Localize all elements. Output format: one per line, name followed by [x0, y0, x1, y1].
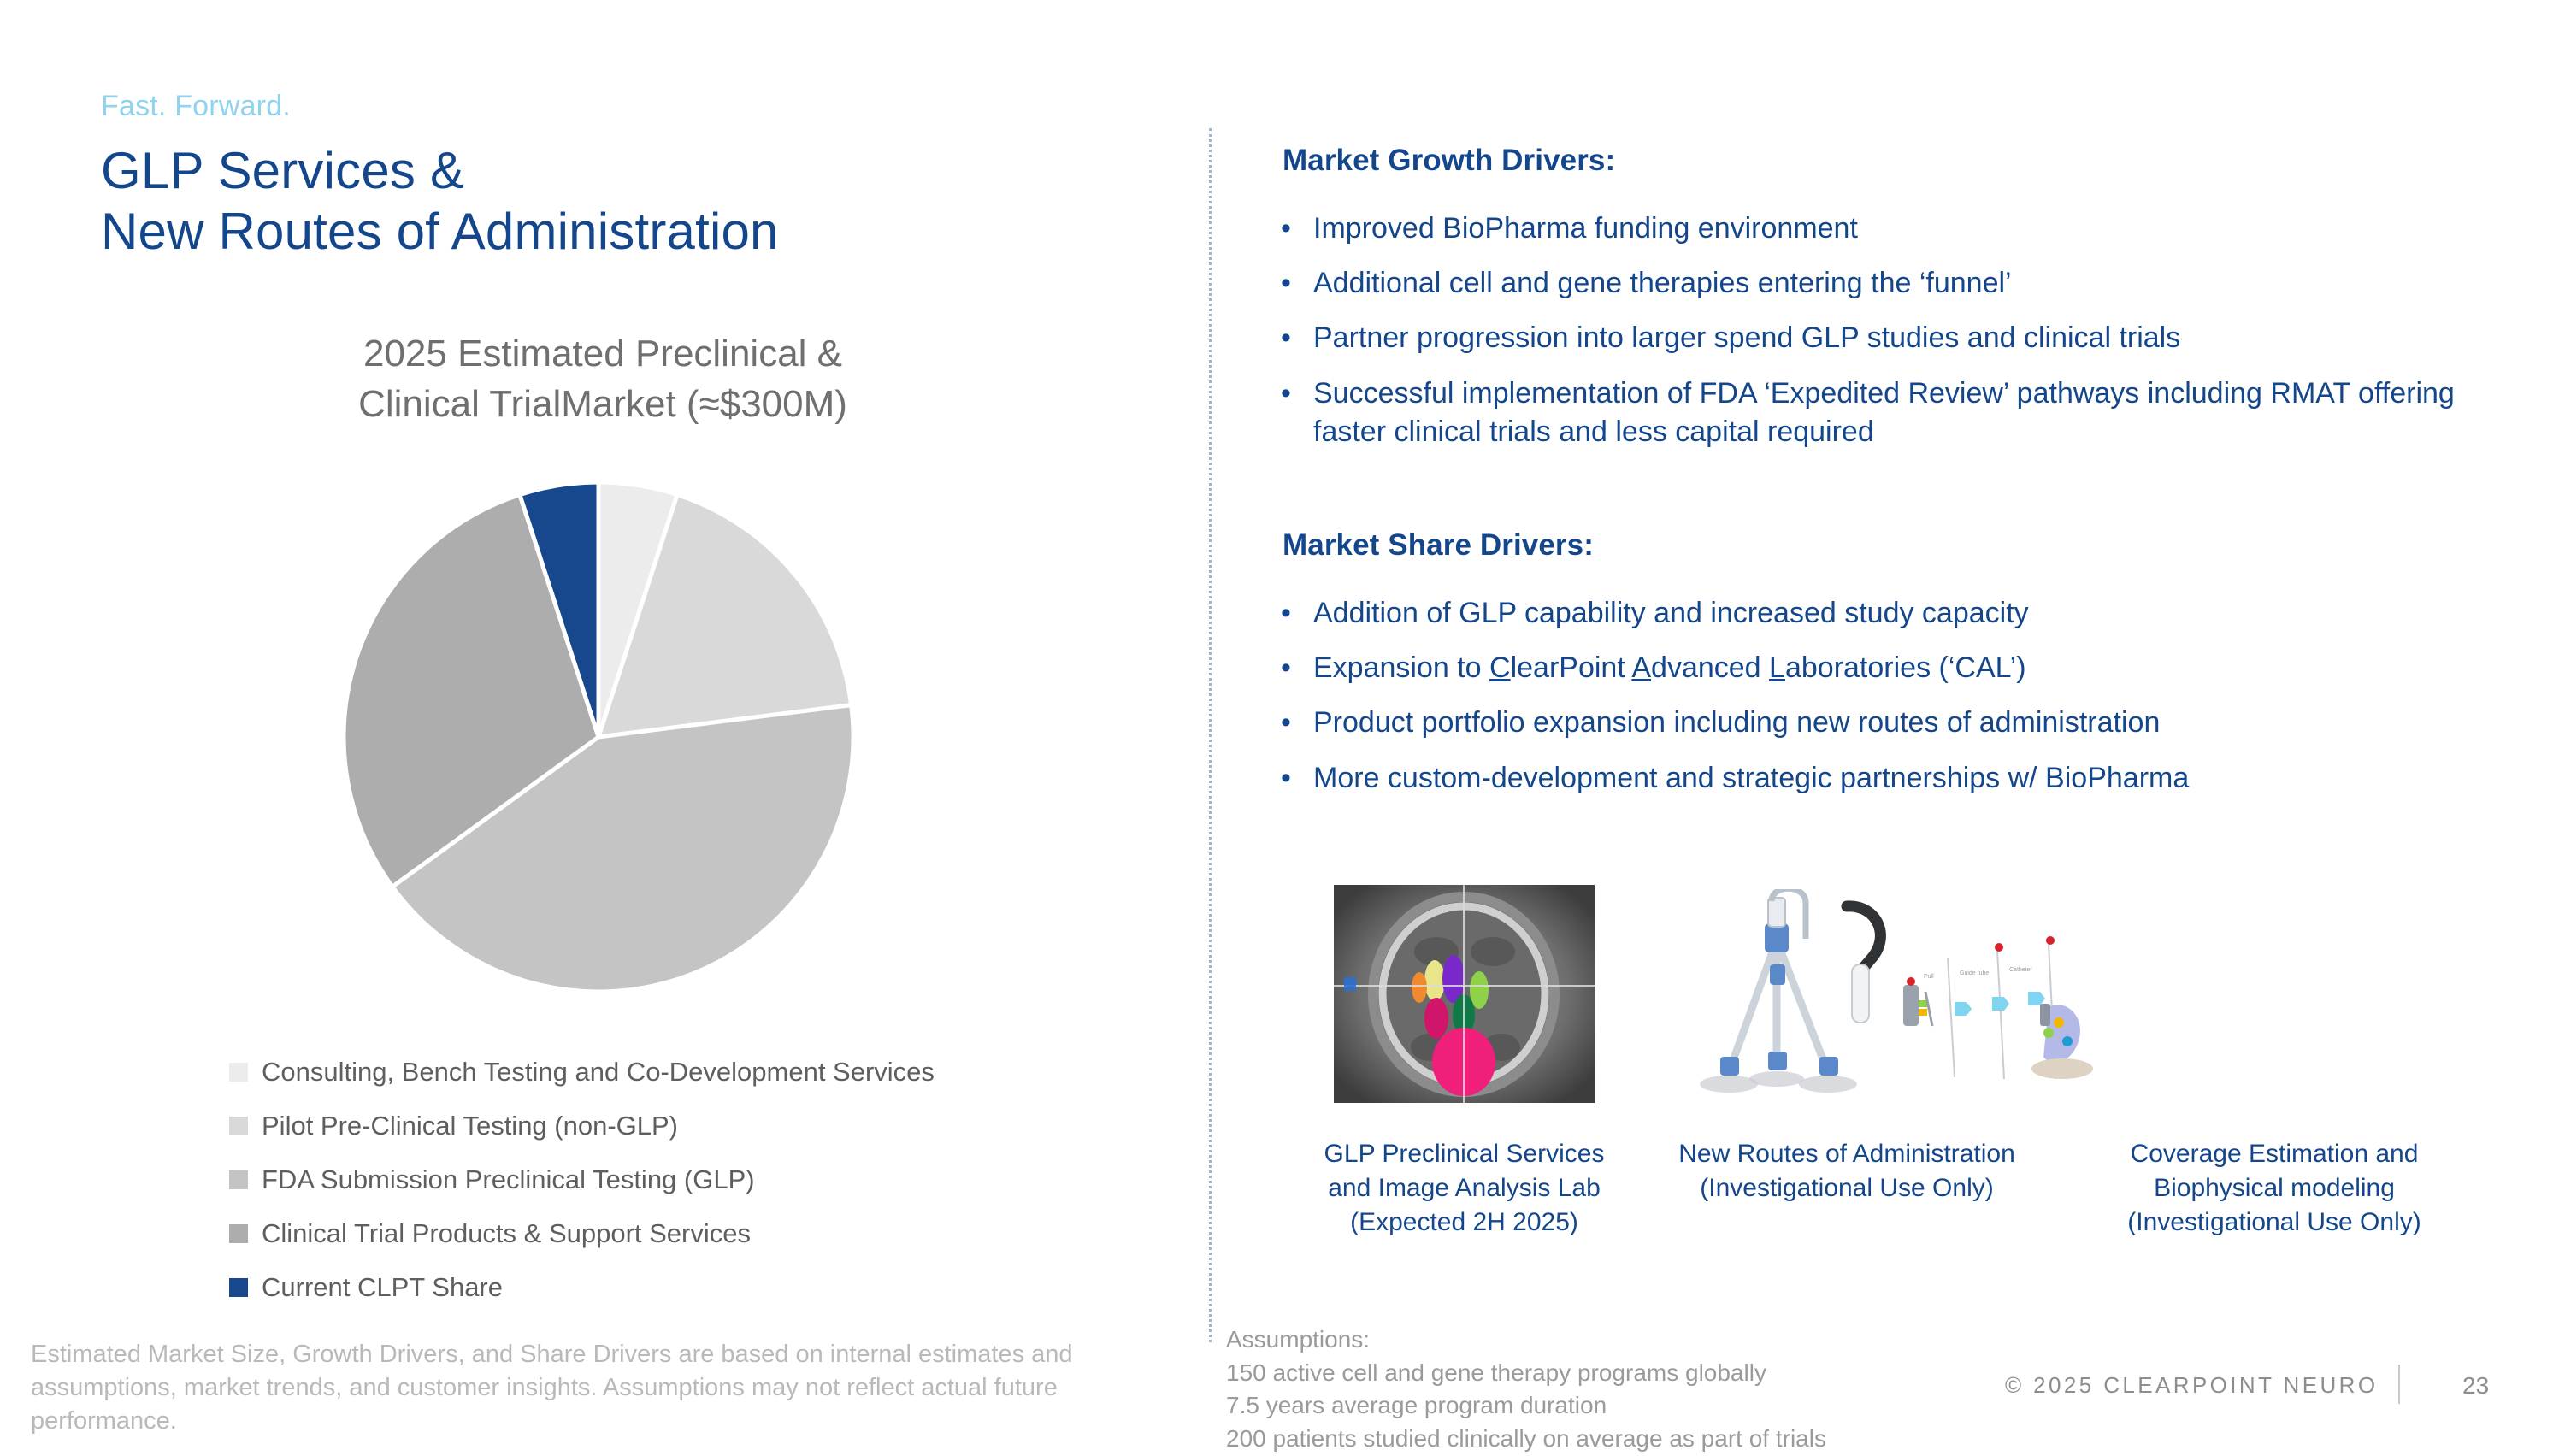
legend-item[interactable]: Pilot Pre-Clinical Testing (non-GLP): [229, 1099, 999, 1152]
chart-title: 2025 Estimated Preclinical & Clinical Tr…: [154, 329, 1052, 429]
bullet-text: More custom-development and strategic pa…: [1313, 759, 2531, 798]
bullet-item: •Product portfolio expansion including n…: [1274, 704, 2531, 742]
assumption-line: 200 patients studied clinically on avera…: [1226, 1423, 1996, 1456]
pie-chart: [342, 479, 855, 995]
bullet-item: •Addition of GLP capability and increase…: [1274, 594, 2531, 633]
bullet-text: Improved BioPharma funding environment: [1313, 209, 2531, 248]
stereotactic-frame-icon: [1676, 889, 1907, 1103]
svg-text:Catheter: Catheter: [2009, 967, 2033, 973]
vertical-divider: [1209, 128, 1212, 1342]
legend-item-label: FDA Submission Preclinical Testing (GLP): [262, 1166, 755, 1193]
bullet-dot-icon: •: [1274, 704, 1313, 742]
bullet-dot-icon: •: [1274, 759, 1313, 798]
page-title: GLP Services & New Routes of Administrat…: [101, 141, 1127, 262]
bullet-dot-icon: •: [1274, 209, 1313, 248]
assumption-line: Assumptions:: [1226, 1323, 1996, 1357]
legend-item[interactable]: FDA Submission Preclinical Testing (GLP): [229, 1152, 999, 1206]
smartframe-device-thumbnail: [1676, 889, 1907, 1103]
legend-swatch-icon: [229, 1117, 248, 1135]
bullet-text: Addition of GLP capability and increased…: [1313, 594, 2531, 633]
bullet-text: Successful implementation of FDA ‘Expedi…: [1313, 374, 2531, 451]
legend-item[interactable]: Consulting, Bench Testing and Co-Develop…: [229, 1045, 999, 1099]
market-share-drivers-list: •Addition of GLP capability and increase…: [1274, 594, 2531, 814]
bullet-dot-icon: •: [1274, 594, 1313, 633]
market-share-drivers-heading: Market Share Drivers:: [1282, 528, 1594, 563]
assumption-line: 7.5 years average program duration: [1226, 1389, 1996, 1423]
bullet-item: •Successful implementation of FDA ‘Exped…: [1274, 374, 2531, 451]
biophysical-modeling-icon: Pull Guide tube Catheter: [1881, 932, 2095, 1103]
legend-item[interactable]: Clinical Trial Products & Support Servic…: [229, 1206, 999, 1260]
bullet-dot-icon: •: [1274, 264, 1313, 303]
bullet-text: Additional cell and gene therapies enter…: [1313, 264, 2531, 303]
bullet-dot-icon: •: [1274, 649, 1313, 687]
caption-glp-preclinical: GLP Preclinical Services and Image Analy…: [1317, 1137, 1612, 1240]
svg-text:Pull: Pull: [1924, 974, 1934, 980]
bullet-dot-icon: •: [1274, 319, 1313, 357]
legend-item-label: Pilot Pre-Clinical Testing (non-GLP): [262, 1112, 678, 1139]
bullet-text: Product portfolio expansion including ne…: [1313, 704, 2531, 742]
slide-root: Fast. Forward. GLP Services & New Routes…: [0, 0, 2565, 1442]
chart-legend: Consulting, Bench Testing and Co-Develop…: [229, 1045, 999, 1314]
bullet-item: •Expansion to ClearPoint Advanced Labora…: [1274, 649, 2531, 687]
bullet-text: Expansion to ClearPoint Advanced Laborat…: [1313, 649, 2531, 687]
bullet-item: •Additional cell and gene therapies ente…: [1274, 264, 2531, 303]
legend-swatch-icon: [229, 1170, 248, 1189]
legend-item-label: Clinical Trial Products & Support Servic…: [262, 1220, 751, 1247]
coverage-modeling-thumbnail: Pull Guide tube Catheter: [1881, 932, 2095, 1103]
pie-chart-svg: [342, 479, 855, 995]
disclaimer-text: Estimated Market Size, Growth Drivers, a…: [31, 1338, 1168, 1438]
chart-title-line-1: 2025 Estimated Preclinical &: [154, 329, 1052, 380]
brain-mri-icon: [1334, 885, 1595, 1103]
bullet-dot-icon: •: [1274, 374, 1313, 451]
page-title-line-1: GLP Services &: [101, 141, 1127, 202]
assumptions-text: Assumptions:150 active cell and gene the…: [1226, 1323, 1996, 1456]
bullet-item: •Partner progression into larger spend G…: [1274, 319, 2531, 357]
chart-title-line-2: Clinical TrialMarket (≈$300M): [154, 380, 1052, 430]
market-growth-drivers-list: •Improved BioPharma funding environment•…: [1274, 209, 2531, 468]
legend-swatch-icon: [229, 1063, 248, 1082]
page-title-line-2: New Routes of Administration: [101, 202, 1127, 262]
tagline: Fast. Forward.: [101, 90, 291, 123]
legend-item-label: Consulting, Bench Testing and Co-Develop…: [262, 1058, 935, 1085]
assumption-line: 150 active cell and gene therapy program…: [1226, 1357, 1996, 1390]
caption-coverage-estimation: Coverage Estimation and Biophysical mode…: [2095, 1137, 2454, 1240]
thumbnail-row: Pull Guide tube Catheter: [1334, 885, 2531, 1167]
copyright-text: © 2025 CLEARPOINT NEURO: [2005, 1372, 2378, 1399]
bullet-text: Partner progression into larger spend GL…: [1313, 319, 2531, 357]
bullet-item: •Improved BioPharma funding environment: [1274, 209, 2531, 248]
legend-swatch-icon: [229, 1224, 248, 1243]
bullet-item: •More custom-development and strategic p…: [1274, 759, 2531, 798]
page-number: 23: [2462, 1372, 2489, 1400]
footer-separator: [2398, 1365, 2400, 1404]
svg-text:Guide tube: Guide tube: [1960, 970, 1989, 976]
brain-mri-thumbnail: [1334, 885, 1595, 1103]
legend-item-label: Current CLPT Share: [262, 1274, 503, 1300]
caption-new-routes: New Routes of Administration (Investigat…: [1667, 1137, 2026, 1205]
market-growth-drivers-heading: Market Growth Drivers:: [1282, 144, 1615, 178]
legend-swatch-icon: [229, 1278, 248, 1297]
legend-item[interactable]: Current CLPT Share: [229, 1260, 999, 1314]
